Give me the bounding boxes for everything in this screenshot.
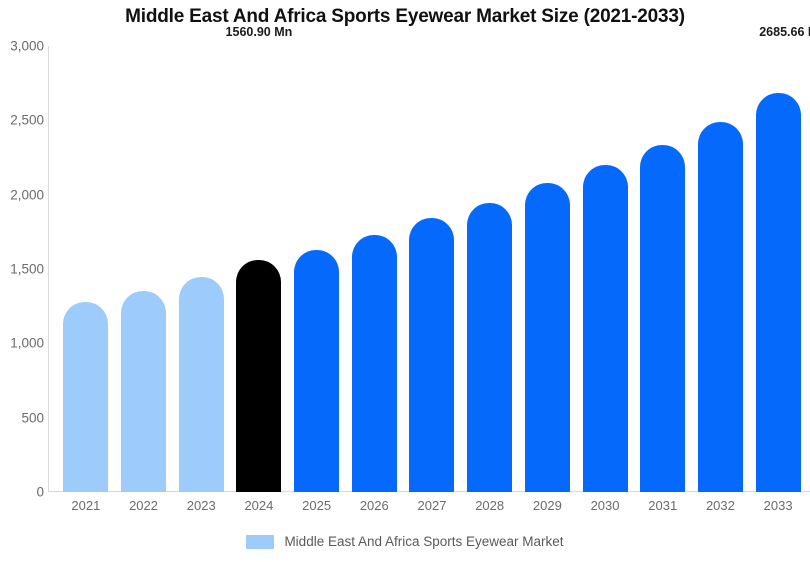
- y-axis-tick: 1,500: [0, 262, 44, 277]
- bar-2023[interactable]: [179, 277, 224, 492]
- chart-legend: Middle East And Africa Sports Eyewear Ma…: [0, 534, 810, 549]
- x-axis-tick-2022: 2022: [115, 498, 173, 513]
- bar-slot: [288, 46, 346, 492]
- y-axis-tick: 3,000: [0, 39, 44, 54]
- legend-item-label: Middle East And Africa Sports Eyewear Ma…: [284, 534, 563, 549]
- bar-slot: [576, 46, 634, 492]
- y-axis-tick: 1,000: [0, 336, 44, 351]
- x-axis-tick-labels: 2021202220232024202520262027202820292030…: [57, 498, 807, 513]
- bar-2032[interactable]: [698, 122, 743, 492]
- chart-container: Middle East And Africa Sports Eyewear Ma…: [0, 0, 810, 562]
- bar-2028[interactable]: [467, 203, 512, 492]
- chart-title: Middle East And Africa Sports Eyewear Ma…: [0, 6, 810, 28]
- x-axis-tick-2025: 2025: [288, 498, 346, 513]
- y-axis-tick: 500: [0, 410, 44, 425]
- x-axis-tick-2028: 2028: [461, 498, 519, 513]
- bar-2021[interactable]: [63, 302, 108, 492]
- y-axis-line: [48, 46, 49, 492]
- legend-swatch-icon: [246, 535, 274, 549]
- bar-slot: [57, 46, 115, 492]
- bar-2025[interactable]: [294, 250, 339, 492]
- bar-slot: 1560.90 Mn: [230, 46, 288, 492]
- y-axis-tick: 0: [0, 485, 44, 500]
- bar-value-label: 2685.66 Mn: [759, 25, 810, 39]
- bar-slot: [172, 46, 230, 492]
- bar-slot: [115, 46, 173, 492]
- y-axis-tick: 2,500: [0, 113, 44, 128]
- bar-slot: [403, 46, 461, 492]
- x-axis-tick-2021: 2021: [57, 498, 115, 513]
- x-axis-tick-2032: 2032: [692, 498, 750, 513]
- bar-value-label: 1560.90 Mn: [226, 25, 293, 39]
- bar-2027[interactable]: [409, 218, 454, 492]
- plot-area: 3,0002,5002,0001,5001,0005000 1560.90 Mn…: [48, 46, 810, 492]
- y-axis-tick: 2,000: [0, 187, 44, 202]
- bar-2030[interactable]: [583, 165, 628, 492]
- x-axis-tick-2027: 2027: [403, 498, 461, 513]
- bar-slot: [345, 46, 403, 492]
- x-axis-tick-2026: 2026: [345, 498, 403, 513]
- x-axis-tick-2023: 2023: [172, 498, 230, 513]
- x-axis-tick-2030: 2030: [576, 498, 634, 513]
- bar-2026[interactable]: [352, 235, 397, 492]
- bar-slot: [634, 46, 692, 492]
- bar-group: 1560.90 Mn2685.66 Mn: [57, 46, 807, 492]
- bar-slot: [692, 46, 750, 492]
- bar-slot: [461, 46, 519, 492]
- x-axis-tick-2029: 2029: [519, 498, 577, 513]
- bar-2033[interactable]: 2685.66 Mn: [756, 93, 801, 492]
- bar-2024[interactable]: 1560.90 Mn: [236, 260, 281, 492]
- bar-slot: [519, 46, 577, 492]
- bar-slot: 2685.66 Mn: [749, 46, 807, 492]
- bar-2029[interactable]: [525, 183, 570, 492]
- x-axis-tick-2031: 2031: [634, 498, 692, 513]
- x-axis-tick-2033: 2033: [749, 498, 807, 513]
- bar-2031[interactable]: [640, 145, 685, 492]
- x-axis-tick-2024: 2024: [230, 498, 288, 513]
- bar-2022[interactable]: [121, 291, 166, 492]
